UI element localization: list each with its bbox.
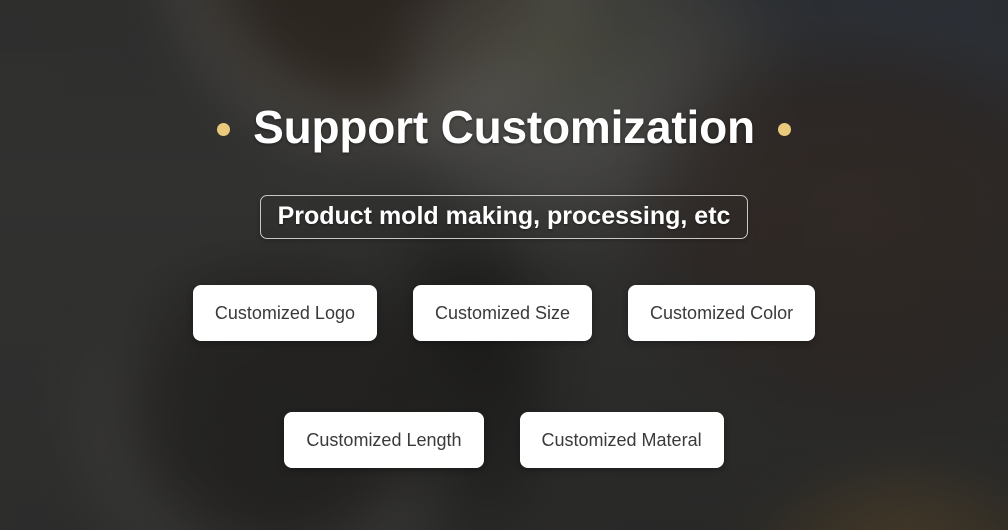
tag-customized-size[interactable]: Customized Size	[413, 285, 592, 341]
tag-customized-color[interactable]: Customized Color	[628, 285, 815, 341]
tag-customized-logo[interactable]: Customized Logo	[193, 285, 377, 341]
tag-row-1: Customized Logo Customized Size Customiz…	[0, 285, 1008, 341]
subtitle-row: Product mold making, processing, etc	[0, 195, 1008, 239]
page-title: Support Customization	[253, 100, 755, 154]
tag-customized-length[interactable]: Customized Length	[284, 412, 483, 468]
dot-icon-right	[778, 123, 791, 136]
tag-customized-materal[interactable]: Customized Materal	[520, 412, 724, 468]
support-customization-banner: Support Customization Product mold makin…	[0, 0, 1008, 530]
tag-row-2: Customized Length Customized Materal	[0, 412, 1008, 468]
subtitle-badge: Product mold making, processing, etc	[260, 195, 749, 239]
headline-row: Support Customization	[0, 100, 1008, 154]
banner-content: Support Customization Product mold makin…	[0, 0, 1008, 530]
dot-icon-left	[217, 123, 230, 136]
customization-tag-list: Customized Logo Customized Size Customiz…	[0, 285, 1008, 468]
